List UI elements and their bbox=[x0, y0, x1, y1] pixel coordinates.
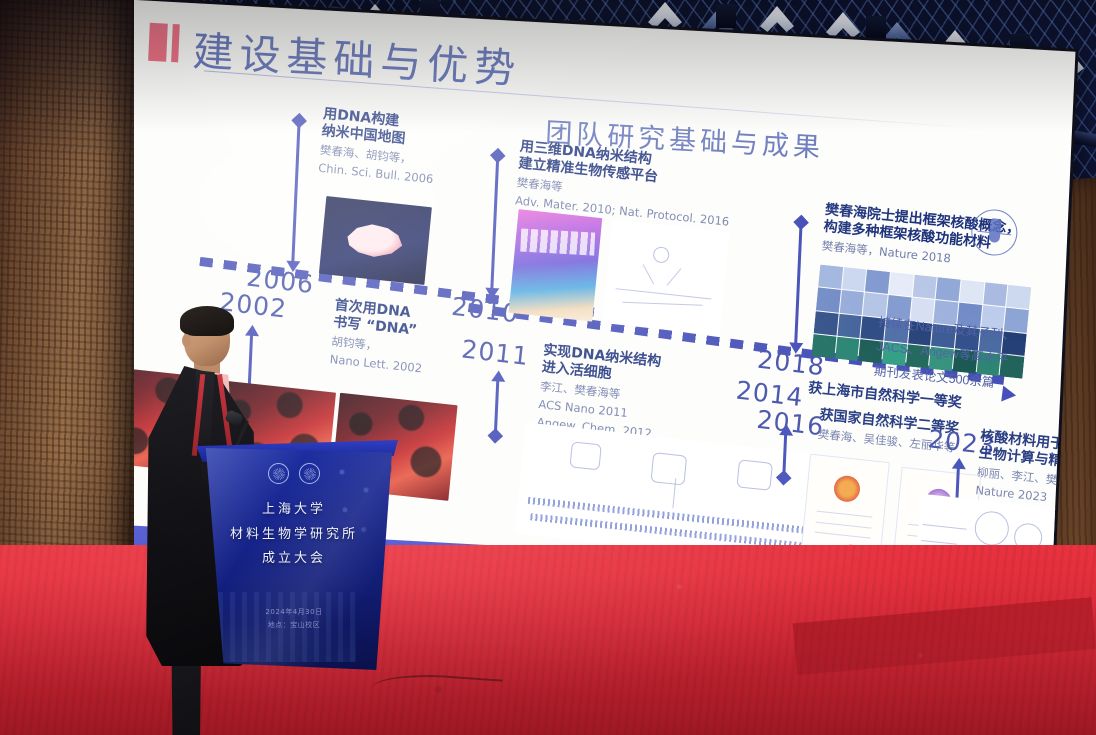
schematic-stroke bbox=[622, 302, 702, 306]
speaker-ear bbox=[182, 334, 191, 347]
podium-lectern: 上海大学 材料生物学研究所 成立大会 2024年4月30日 地点：宝山校区 bbox=[196, 448, 392, 670]
gallery-cell bbox=[983, 282, 1008, 307]
figure-afm-china-map bbox=[319, 196, 432, 285]
podium-event: 成立大会 bbox=[196, 547, 392, 572]
podium-institute: 材料生物学研究所 bbox=[196, 523, 392, 548]
certificate-rule bbox=[814, 532, 870, 539]
figure-biosensor-schematic bbox=[602, 219, 729, 335]
university-emblem-icon bbox=[268, 463, 289, 484]
schematic-node bbox=[973, 510, 1010, 547]
gallery-cell bbox=[818, 265, 843, 290]
year-label-2011: 2011 bbox=[460, 334, 530, 371]
connector-node-2010 bbox=[490, 148, 506, 164]
connector-node-2018 bbox=[793, 215, 809, 231]
podium-date-line1: 2024年4月30日 bbox=[196, 606, 392, 619]
gallery-cell bbox=[811, 334, 836, 359]
podium-emblems bbox=[268, 463, 320, 484]
institute-emblem-icon bbox=[299, 463, 320, 484]
schematic-polyhedron bbox=[736, 459, 773, 490]
connector-2010 bbox=[490, 156, 499, 292]
gallery-cell bbox=[889, 272, 914, 297]
certificate-rule bbox=[816, 521, 872, 528]
connector-arrow-2023 bbox=[952, 458, 966, 470]
gallery-cell bbox=[842, 267, 867, 292]
schematic-polyhedron bbox=[650, 452, 687, 485]
gallery-cell bbox=[959, 280, 984, 305]
connector-arrow-awards bbox=[779, 424, 793, 436]
gallery-cell bbox=[839, 290, 864, 315]
gallery-cell bbox=[837, 313, 862, 338]
conference-stage-scene: 建设基础与优势 团队研究基础与成果 2006 用DNA构建 纳 bbox=[0, 0, 1096, 735]
certificate-seal bbox=[833, 474, 861, 503]
podium-date-block: 2024年4月30日 地点：宝山校区 bbox=[196, 606, 392, 631]
entry-2006: 用DNA构建 纳米中国地图 樊春海、胡钧等， Chin. Sci. Bull. … bbox=[318, 106, 439, 187]
schematic-stroke bbox=[616, 288, 712, 300]
connector-node-2006 bbox=[291, 113, 307, 129]
accent-bar-narrow bbox=[171, 24, 180, 62]
connector-arrow-2011 bbox=[491, 370, 505, 382]
schematic-polyhedron bbox=[569, 441, 601, 470]
gallery-cell bbox=[936, 277, 961, 302]
certificate-rule bbox=[817, 511, 873, 518]
podium-text-block: 上海大学 材料生物学研究所 成立大会 bbox=[196, 498, 392, 572]
title-accent-bars bbox=[148, 23, 180, 63]
gallery-cell bbox=[814, 311, 839, 336]
schematic-stroke bbox=[642, 264, 654, 284]
gallery-cell bbox=[816, 288, 841, 313]
gallery-cell bbox=[835, 336, 860, 361]
speaker-hair bbox=[180, 306, 234, 336]
lamp-housing bbox=[716, 4, 736, 28]
gallery-cell bbox=[912, 275, 937, 300]
entry-2002: 首次用DNA 书写 “DNA” 胡钧等， Nano Lett. 2002 bbox=[329, 297, 427, 376]
podium-organization: 上海大学 bbox=[196, 498, 392, 523]
connector-2018 bbox=[794, 223, 803, 347]
schematic-stroke bbox=[923, 524, 967, 530]
connector-node-2011 bbox=[488, 428, 504, 444]
accent-bar-wide bbox=[148, 23, 168, 62]
gallery-cell bbox=[1007, 285, 1032, 310]
page-title: 建设基础与优势 bbox=[191, 17, 522, 95]
podium-date-line2: 地点：宝山校区 bbox=[196, 619, 392, 632]
publication-note-block: 持续在Nature及其子刊、 JACS、Angew等高水平 期刊发表论文500余… bbox=[873, 310, 1016, 397]
year-label-2016: 2016 bbox=[755, 405, 825, 442]
connector-2011 bbox=[494, 378, 499, 434]
schematic-node bbox=[652, 246, 669, 264]
gallery-cell bbox=[865, 270, 890, 295]
figure-advanced-materials-cover bbox=[509, 209, 603, 321]
connector-2006 bbox=[291, 121, 300, 265]
schematic-stroke bbox=[667, 268, 682, 286]
cover-masthead bbox=[520, 228, 595, 255]
